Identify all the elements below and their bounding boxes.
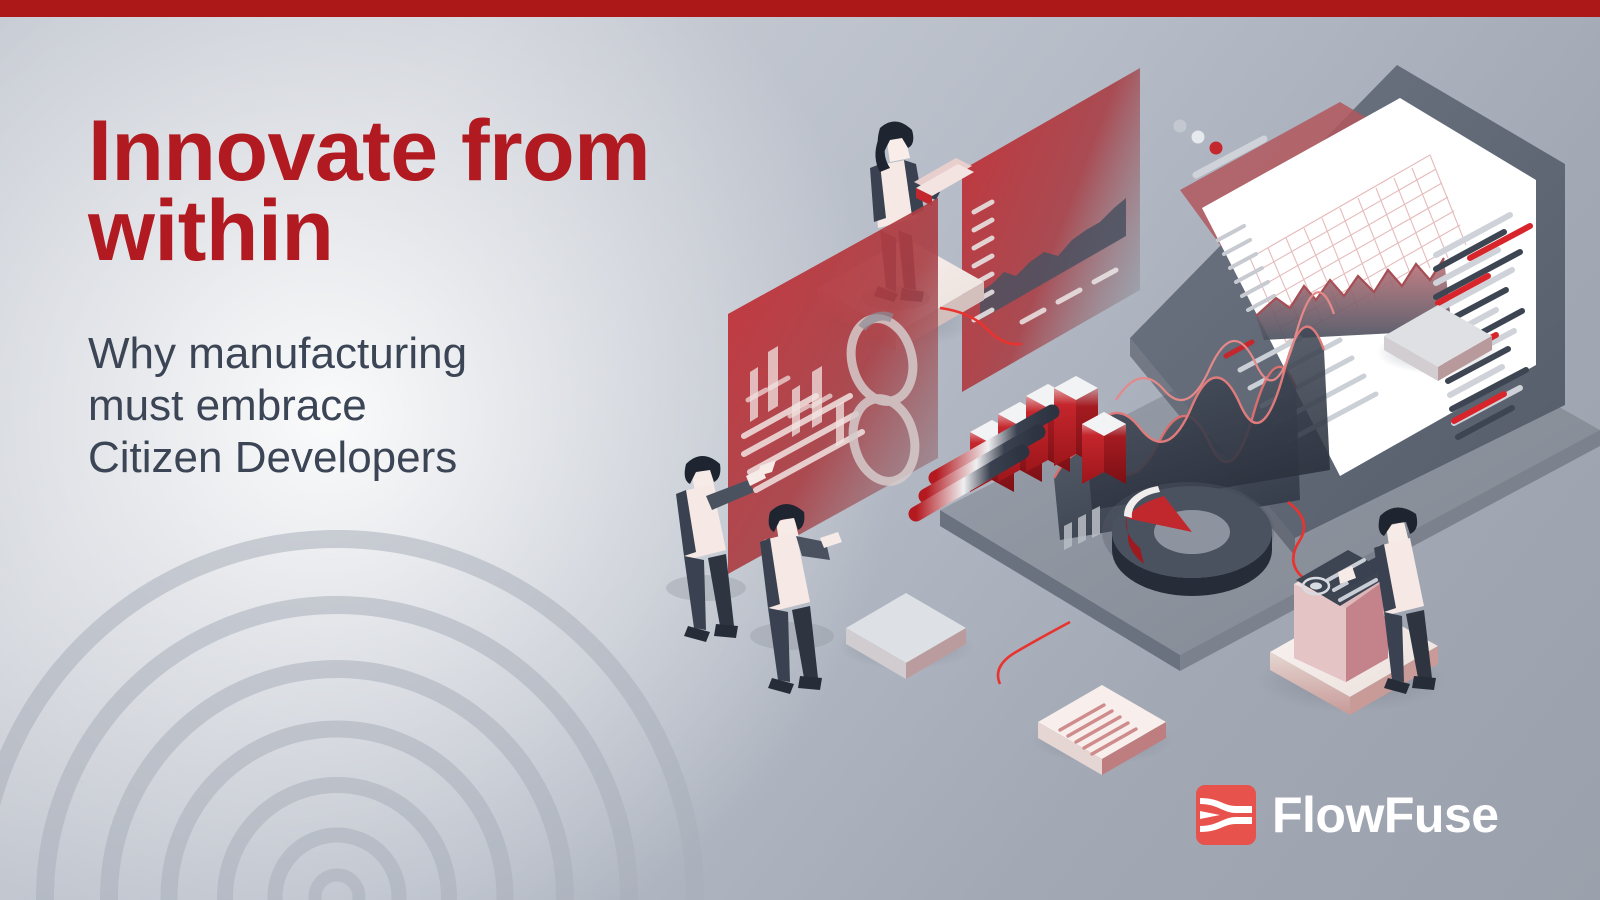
red-area-chart-panel	[962, 68, 1140, 392]
flowfuse-logo[interactable]: FlowFuse	[1196, 785, 1499, 845]
text-block: Innovate from within Why manufacturing m…	[88, 112, 788, 484]
floating-tile-blank-left	[838, 593, 974, 679]
top-accent-bar	[0, 0, 1600, 17]
banner-canvas: Innovate from within Why manufacturing m…	[0, 0, 1600, 900]
flowfuse-wordmark: FlowFuse	[1272, 790, 1499, 840]
page-subtitle: Why manufacturing must embrace Citizen D…	[88, 328, 788, 484]
flowfuse-logo-icon	[1196, 785, 1256, 845]
page-title: Innovate from within	[88, 112, 788, 272]
floating-tile-document	[1030, 685, 1174, 775]
